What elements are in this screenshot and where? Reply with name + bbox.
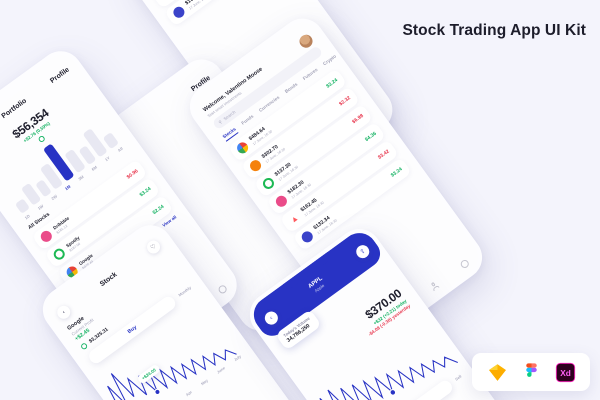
airbnb-logo: ▲ [287, 211, 302, 226]
favorite-icon[interactable]: ♡ [144, 238, 162, 256]
figma-badge [521, 362, 542, 383]
row-change: $6.98 [351, 113, 365, 125]
dribbble-logo [274, 194, 289, 209]
google-logo [235, 140, 250, 155]
page-title: Stock [99, 271, 119, 288]
google-logo [158, 0, 173, 2]
format-badges: Xd [472, 353, 590, 391]
back-button[interactable]: ‹ [55, 303, 73, 321]
sketch-badge [487, 362, 508, 383]
list-item[interactable]: $132.34 17 June, 16:30 $3.24 [164, 0, 272, 27]
spotify-logo [261, 176, 276, 191]
person-icon[interactable] [429, 280, 440, 291]
youtube-logo [171, 5, 186, 20]
xd-badge: Xd [555, 362, 576, 383]
settings-gear-icon[interactable] [217, 284, 228, 295]
row-change: $4.36 [364, 130, 378, 142]
range-label[interactable]: Monthly [178, 286, 192, 298]
page-title: Stock Trading App UI Kit [402, 22, 586, 40]
spotify-logo [52, 246, 67, 261]
dribbble-logo [39, 229, 54, 244]
row-change: $2.32 [338, 95, 352, 107]
list-item-time: 17 June, 16:30 [188, 0, 251, 11]
poster-canvas: ▲ $162.45 17 June, 16:30 $3.42 $484.64 1… [0, 0, 600, 400]
list-item-change: $3.24 [138, 186, 152, 198]
list-item-change: $0.96 [125, 168, 139, 180]
tab-bonds[interactable]: Bonds [284, 82, 300, 97]
tab-funds[interactable]: Funds [240, 114, 256, 129]
row-change: $3.24 [390, 166, 404, 178]
search-icon: ⚲ [217, 119, 223, 126]
sell-label[interactable]: Sell [455, 374, 463, 381]
row-change: $3.42 [377, 148, 391, 160]
search-placeholder: Search [222, 109, 236, 121]
svg-text:Xd: Xd [560, 368, 571, 378]
youtube-logo [300, 229, 315, 244]
firebase-logo [248, 158, 263, 173]
list-item-change: $2.24 [151, 203, 165, 215]
tab-crypto[interactable]: Crypto [322, 54, 339, 69]
row-change: $3.24 [325, 77, 339, 89]
settings-gear-icon[interactable] [459, 259, 470, 270]
